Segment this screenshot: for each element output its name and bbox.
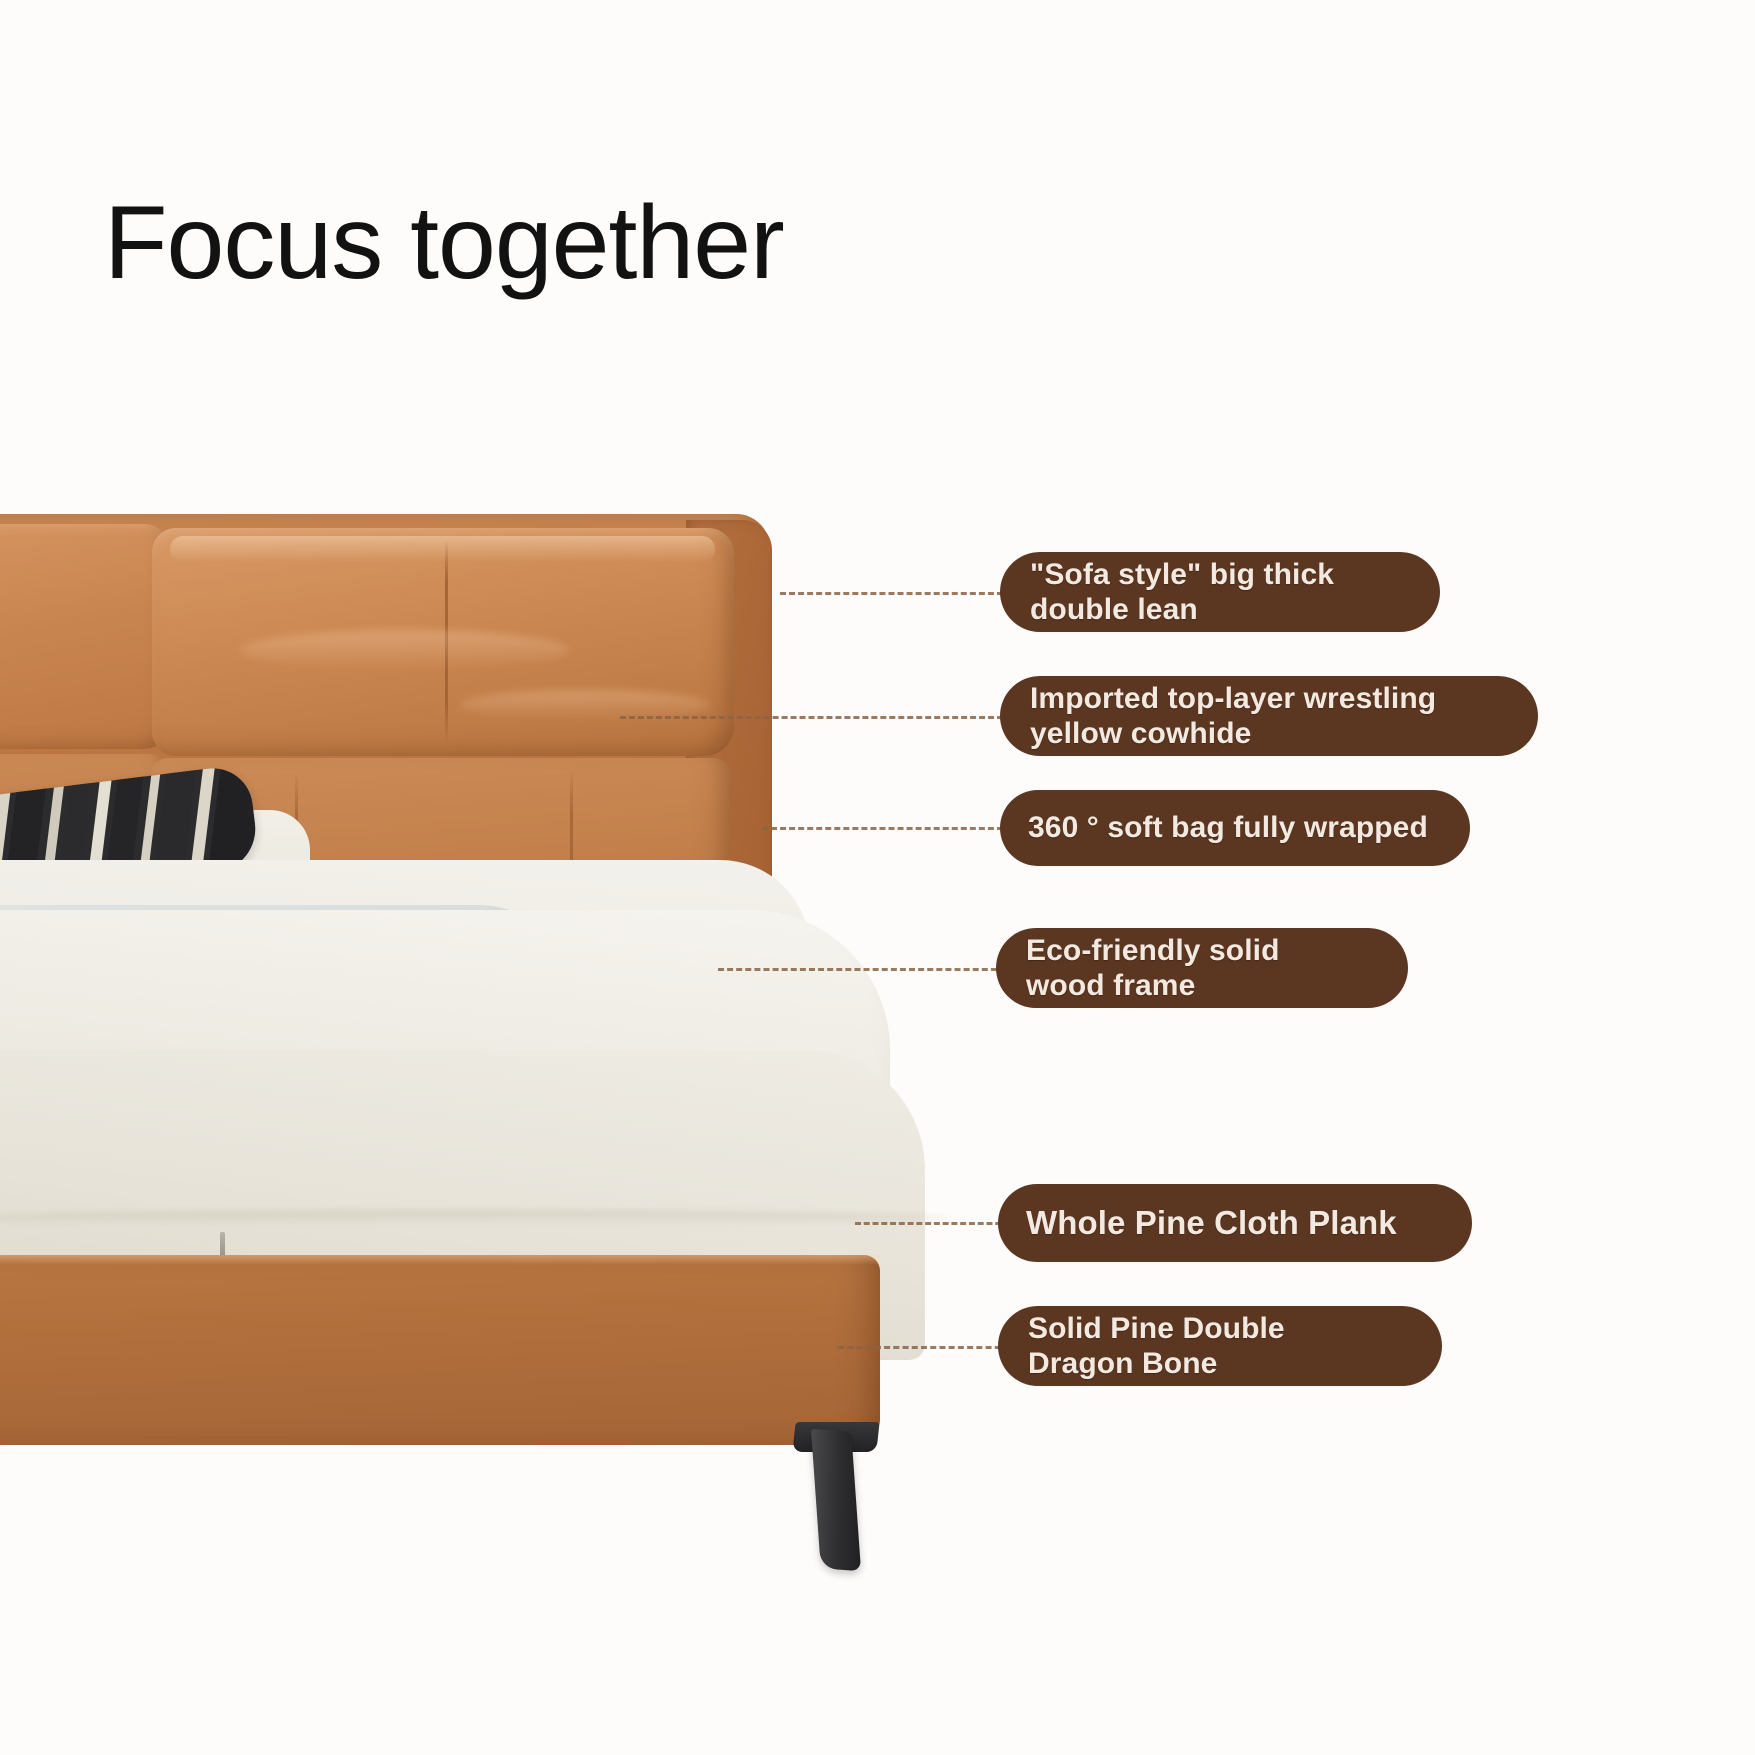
callout-cowhide[interactable]: Imported top-layer wrestling yellow cowh… [1000,676,1538,756]
callout-soft-bag[interactable]: 360 ° soft bag fully wrapped [1000,790,1470,866]
headboard-highlight [170,536,715,562]
callout-cowhide-line-2: yellow cowhide [1030,716,1436,751]
callout-dragon-bone-line-2: Dragon Bone [1028,1346,1285,1381]
callout-wood-frame-line-2: wood frame [1026,968,1280,1003]
callout-pine-plank-line-1: Whole Pine Cloth Plank [1026,1204,1397,1243]
bed-base [0,1255,880,1445]
callout-soft-bag-line-1: 360 ° soft bag fully wrapped [1028,810,1428,845]
leader-line-wood-frame [718,968,1006,971]
callout-sofa-style-line-2: double lean [1030,592,1334,627]
callout-sofa-style-line-1: "Sofa style" big thick [1030,557,1334,592]
callout-sofa-style[interactable]: "Sofa style" big thick double lean [1000,552,1440,632]
bed-base-edge [0,1255,880,1265]
leader-line-soft-bag [762,827,1012,830]
callout-dragon-bone[interactable]: Solid Pine Double Dragon Bone [998,1306,1442,1386]
leader-line-sofa-style [780,592,1012,595]
product-image [0,510,1000,1570]
leather-wrinkle [240,630,570,670]
infographic-canvas: Focus together [0,0,1755,1755]
callout-wood-frame-line-1: Eco-friendly solid [1026,933,1280,968]
callout-cowhide-line-1: Imported top-layer wrestling [1030,681,1436,716]
page-title: Focus together [104,186,784,300]
leader-line-pine-plank [855,1222,1010,1225]
callout-pine-plank[interactable]: Whole Pine Cloth Plank [998,1184,1472,1262]
callout-wood-frame[interactable]: Eco-friendly solid wood frame [996,928,1408,1008]
callout-dragon-bone-line-1: Solid Pine Double [1028,1311,1285,1346]
leader-line-cowhide [620,716,1012,719]
leader-line-dragon-bone [838,1346,1010,1349]
headboard-cushion-upper-left [0,524,170,749]
